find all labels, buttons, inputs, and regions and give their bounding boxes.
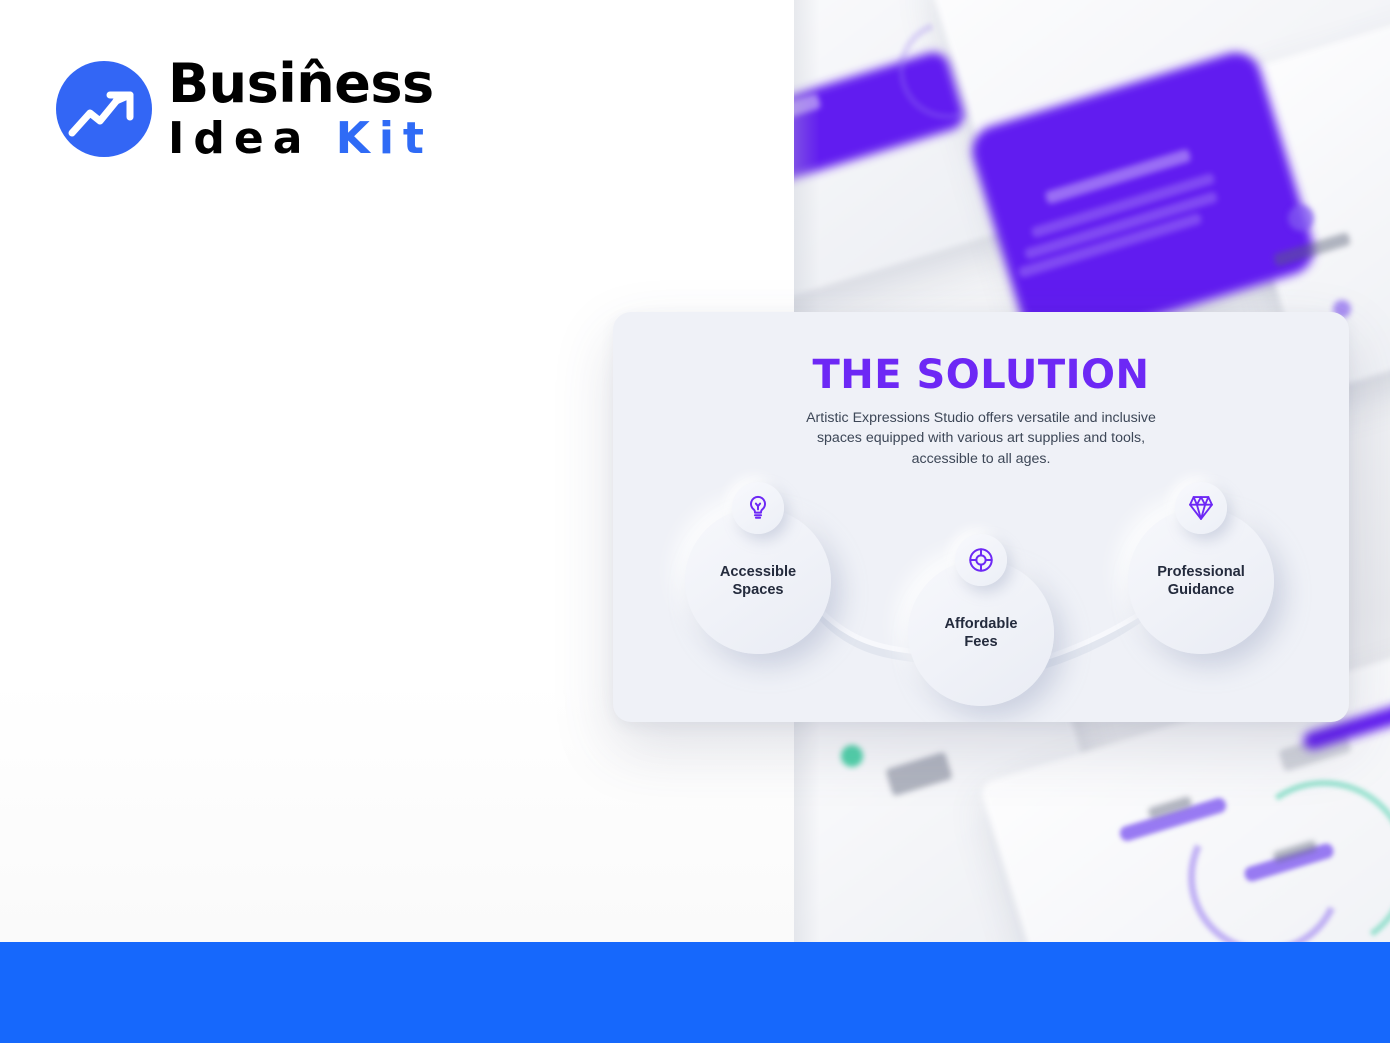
footer-bar xyxy=(0,942,1390,1043)
lightbulb-icon xyxy=(732,482,784,534)
node-label-line2: Fees xyxy=(921,633,1041,651)
growth-arrow-icon xyxy=(56,61,152,157)
node-label-line2: Spaces xyxy=(698,581,818,599)
brand-name-kit: Kit xyxy=(336,113,433,164)
bg-dot xyxy=(841,745,863,767)
node-label: Affordable Fees xyxy=(921,615,1041,651)
brand-name-line1: Busin̂ess xyxy=(168,57,434,111)
node-label-line2: Guidance xyxy=(1141,581,1261,599)
bg-dot xyxy=(1288,205,1314,231)
lifebuoy-icon xyxy=(955,534,1007,586)
brand-wordmark: Busin̂ess Idea Kit xyxy=(168,57,434,161)
node-label: Professional Guidance xyxy=(1141,563,1261,599)
node-label: Accessible Spaces xyxy=(698,563,818,599)
node-label-line1: Professional xyxy=(1141,563,1261,581)
brand-logo[interactable]: Busin̂ess Idea Kit xyxy=(56,57,434,161)
solution-card: THE SOLUTION Artistic Expressions Studio… xyxy=(613,312,1349,722)
node-label-line1: Affordable xyxy=(921,615,1041,633)
diamond-icon xyxy=(1175,482,1227,534)
slide-root: Busin̂ess Idea Kit Solution Present your… xyxy=(0,0,1390,1043)
brand-name-line2: Idea Kit xyxy=(168,117,434,161)
brand-name-idea: Idea xyxy=(168,113,336,164)
solution-node-group: Accessible Spaces xyxy=(613,312,1349,722)
node-label-line1: Accessible xyxy=(698,563,818,581)
